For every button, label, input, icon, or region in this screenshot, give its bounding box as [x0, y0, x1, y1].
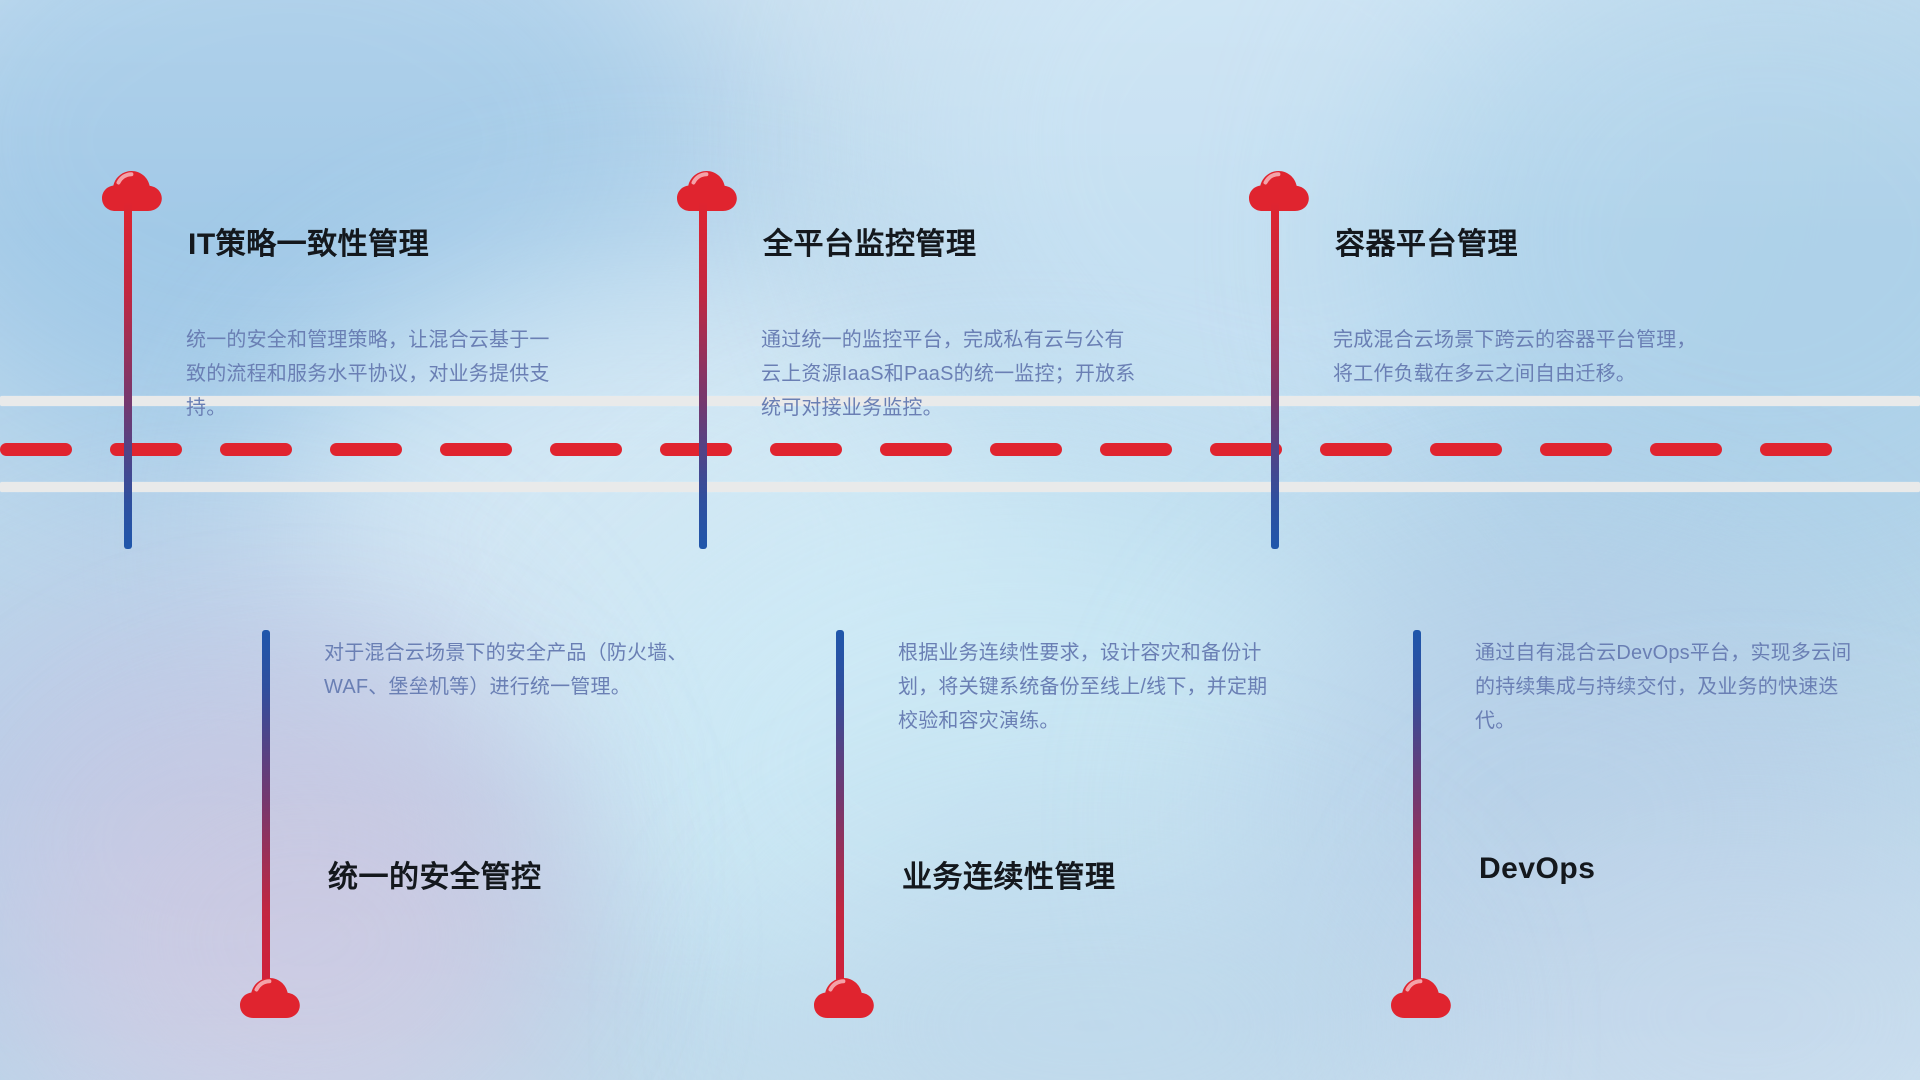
road-dash — [330, 443, 402, 456]
pin-line — [124, 201, 132, 549]
road-dash — [880, 443, 952, 456]
card-body: 根据业务连续性要求，设计容灾和备份计划，将关键系统备份至线上/线下，并定期校验和… — [898, 636, 1278, 738]
pin-line — [699, 201, 707, 549]
road-dash — [440, 443, 512, 456]
cloud-icon — [813, 972, 875, 1019]
road-dash — [110, 443, 182, 456]
card-title: 容器平台管理 — [1335, 219, 1518, 263]
cloud-icon — [1248, 165, 1310, 212]
card-title: DevOps — [1479, 852, 1595, 886]
road-dash — [660, 443, 732, 456]
card-title: 业务连续性管理 — [902, 852, 1116, 896]
card-body: 统一的安全和管理策略，让混合云基于一致的流程和服务水平协议，对业务提供支持。 — [186, 323, 566, 425]
road-dash — [1430, 443, 1502, 456]
road-dashed-line — [0, 443, 1920, 456]
road-dash — [1320, 443, 1392, 456]
road-dash — [1540, 443, 1612, 456]
cloud-icon — [1390, 972, 1452, 1019]
background — [0, 0, 1920, 1080]
road-dash — [550, 443, 622, 456]
card-title: 统一的安全管控 — [328, 852, 542, 896]
pin-line — [1271, 201, 1279, 549]
road-edge-bottom — [0, 482, 1920, 492]
road-dash — [0, 443, 72, 456]
road-dash — [770, 443, 842, 456]
card-title: IT策略一致性管理 — [188, 219, 429, 263]
cloud-icon — [676, 165, 738, 212]
card-body: 通过统一的监控平台，完成私有云与公有云上资源IaaS和PaaS的统一监控；开放系… — [761, 323, 1141, 425]
card-body: 完成混合云场景下跨云的容器平台管理，将工作负载在多云之间自由迁移。 — [1333, 323, 1713, 391]
pin-line — [1413, 630, 1421, 982]
road-dash — [1100, 443, 1172, 456]
card-body: 通过自有混合云DevOps平台，实现多云间的持续集成与持续交付，及业务的快速迭代… — [1475, 636, 1855, 738]
pin-line — [836, 630, 844, 982]
background-veil — [0, 0, 1920, 1080]
pin-line — [262, 630, 270, 982]
cloud-icon — [239, 972, 301, 1019]
road-dash — [1760, 443, 1832, 456]
road-dash — [990, 443, 1062, 456]
card-body: 对于混合云场景下的安全产品（防火墙、WAF、堡垒机等）进行统一管理。 — [324, 636, 704, 704]
road-dash — [1650, 443, 1722, 456]
cloud-icon — [101, 165, 163, 212]
road-dash — [220, 443, 292, 456]
card-title: 全平台监控管理 — [763, 219, 977, 263]
